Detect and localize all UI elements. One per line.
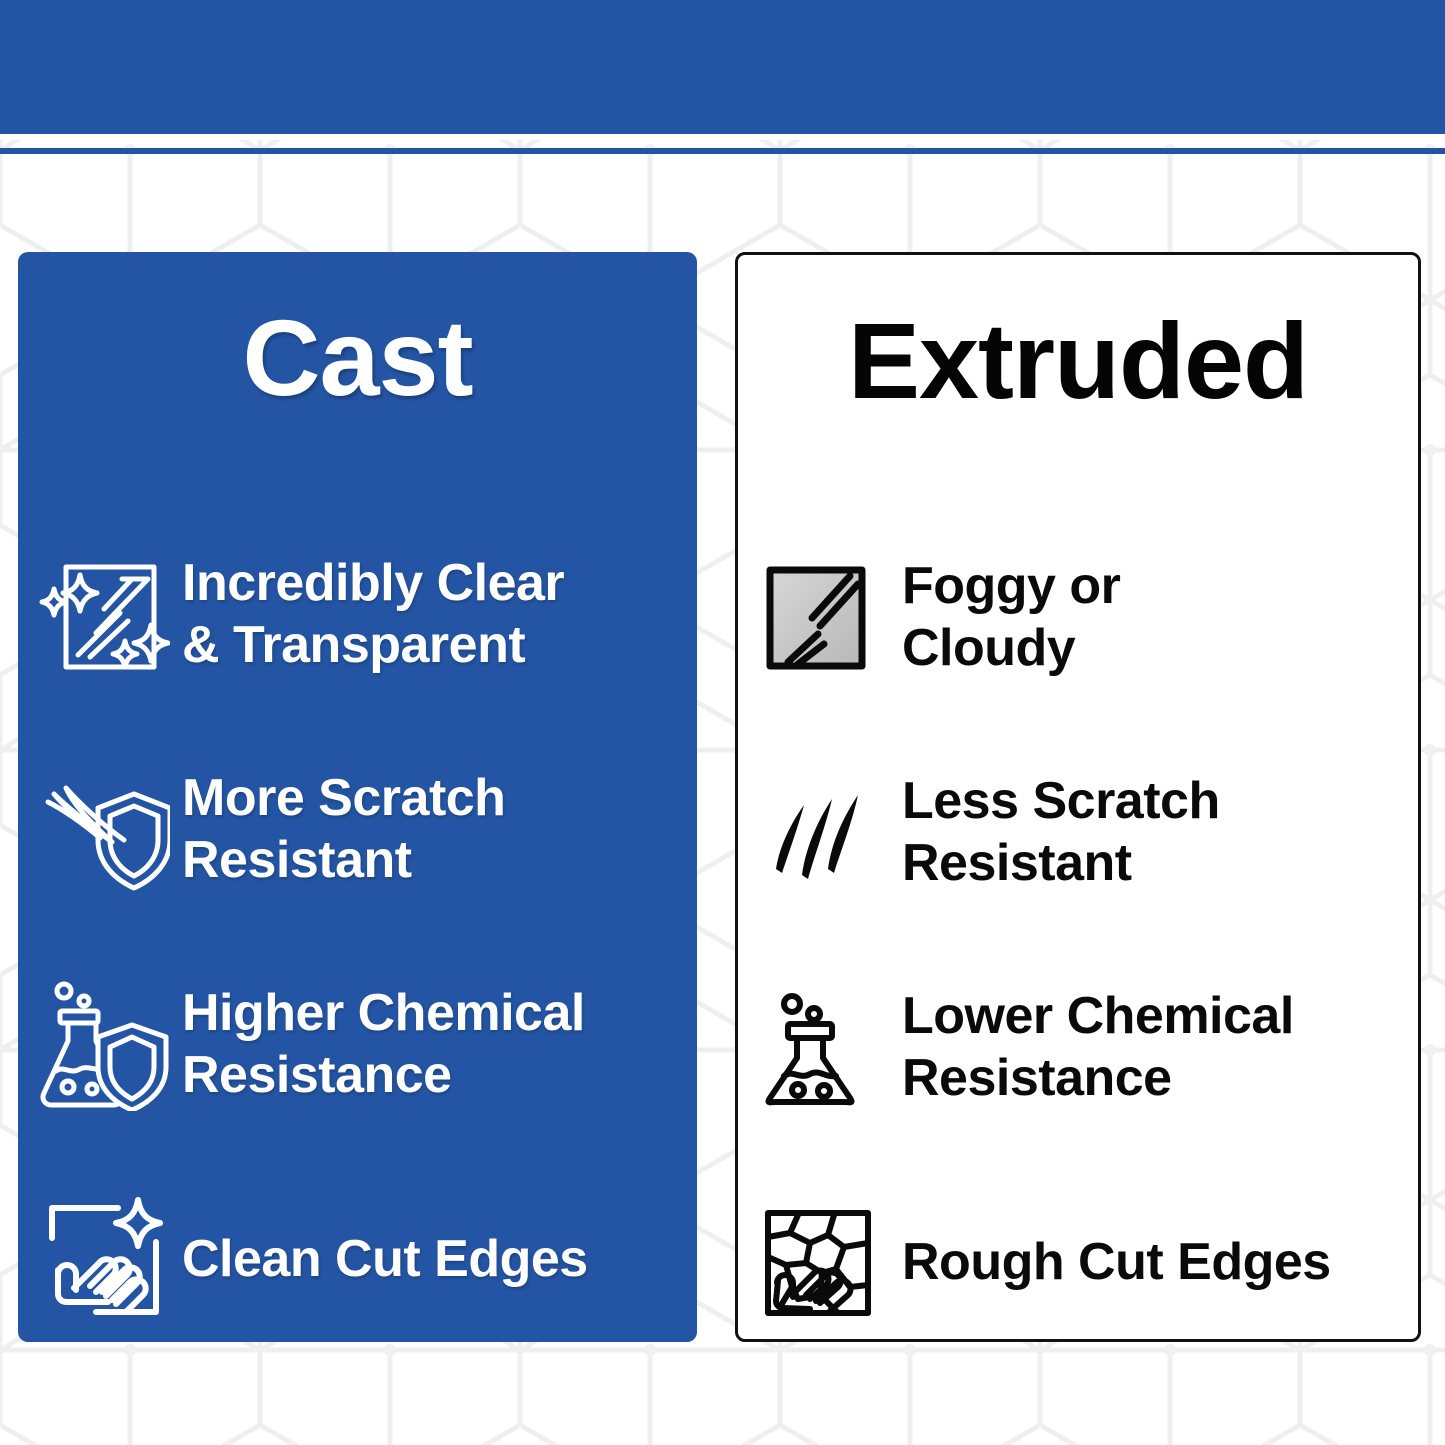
flask-icon (748, 978, 888, 1118)
feature-row: Foggy or Cloudy (738, 510, 1418, 725)
panel-extruded: Extruded (735, 252, 1421, 1342)
infographic-page: Cast Acrylic Benefits Cast (0, 0, 1445, 1445)
header-divider-rule (0, 148, 1445, 154)
scratch-marks-icon (748, 763, 888, 903)
feature-row: Less Scratch Resistant (738, 725, 1418, 940)
feature-row: Rough Cut Edges (738, 1155, 1418, 1370)
flask-shield-icon (34, 975, 174, 1115)
feature-row: More Scratch Resistant (18, 722, 697, 937)
panel-extruded-heading: Extruded (738, 307, 1418, 415)
feature-label: Higher Chemical Resistance (174, 983, 697, 1106)
clean-cut-edge-icon (34, 1190, 174, 1330)
header-bar (0, 0, 1445, 134)
feature-label: Rough Cut Edges (888, 1232, 1418, 1293)
foggy-glass-icon (748, 548, 888, 688)
panel-cast-feature-list: Incredibly Clear & Transparent More Scra… (18, 507, 697, 1367)
feature-label: Incredibly Clear & Transparent (174, 553, 697, 676)
feature-label: More Scratch Resistant (174, 768, 697, 891)
feature-label: Foggy or Cloudy (888, 556, 1418, 679)
panel-cast: Cast (18, 252, 697, 1342)
feature-label: Less Scratch Resistant (888, 771, 1418, 894)
panel-extruded-feature-list: Foggy or Cloudy Less Scratch Resistant (738, 510, 1418, 1370)
feature-label: Lower Chemical Resistance (888, 986, 1418, 1109)
panel-cast-heading: Cast (18, 304, 697, 412)
feature-row: Incredibly Clear & Transparent (18, 507, 697, 722)
clear-glass-sparkle-icon (34, 545, 174, 685)
feature-row: Lower Chemical Resistance (738, 940, 1418, 1155)
rough-cut-edge-icon (748, 1193, 888, 1333)
scratch-shield-icon (34, 760, 174, 900)
feature-row: Clean Cut Edges (18, 1152, 697, 1367)
feature-row: Higher Chemical Resistance (18, 937, 697, 1152)
feature-label: Clean Cut Edges (174, 1229, 697, 1290)
